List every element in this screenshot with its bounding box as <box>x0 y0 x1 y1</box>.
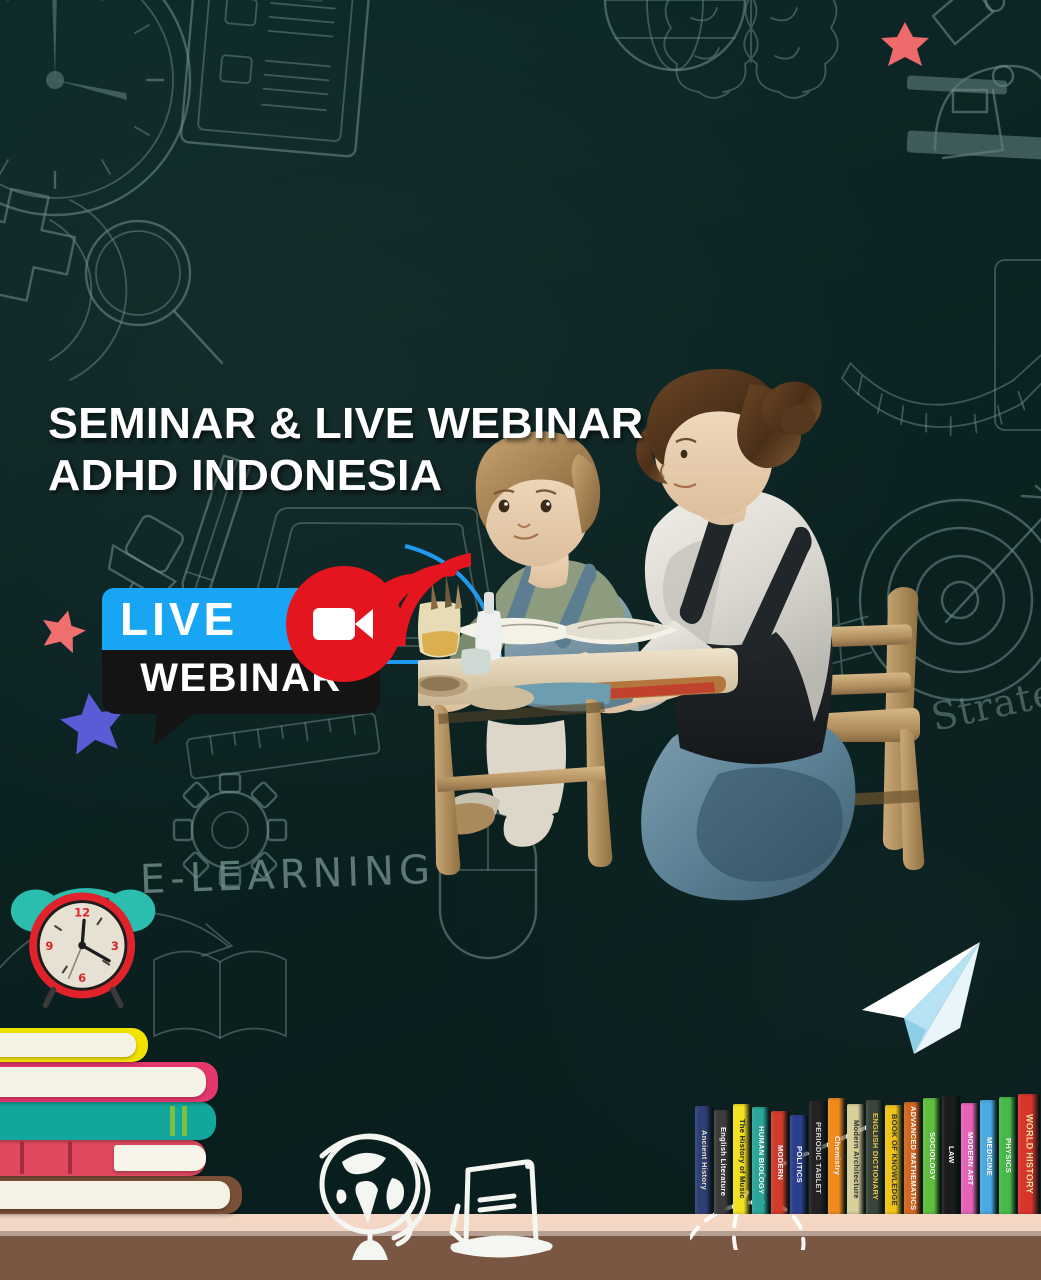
book-spine-title: English Literature <box>719 1127 727 1196</box>
book-spine: ADVANCED MATHEMATICS <box>904 1102 922 1214</box>
book-spine-title: MODERN ART <box>966 1132 974 1186</box>
book-spine: PERIODIC TABLET <box>809 1101 827 1214</box>
alarm-clock: 12 3 6 9 <box>6 878 166 1008</box>
book-spine-title: ENGLISH DICTIONARY <box>871 1113 879 1200</box>
book-spine-title: BOOK OF KNOWLEDGE <box>890 1114 898 1206</box>
book-spine: LAW <box>942 1096 960 1214</box>
stack-book-teal-line2 <box>182 1106 187 1136</box>
stack-book-red-lines2 <box>68 1142 72 1174</box>
book-spine-title: SOCIOLOGY <box>928 1132 936 1180</box>
book-spine-title: PERIODIC TABLET <box>814 1122 822 1194</box>
svg-text:6: 6 <box>78 971 86 985</box>
book-spine-title: PHYSICS <box>1004 1138 1012 1173</box>
clipboard-doodle <box>170 0 390 160</box>
book-spine: SOCIOLOGY <box>923 1098 941 1214</box>
title-line-2: ADHD INDONESIA <box>48 450 643 502</box>
brain-doodle <box>665 0 875 100</box>
camera-glyph <box>313 604 375 644</box>
stack-book-red-pages <box>114 1145 206 1171</box>
stack-book-brown-pages <box>0 1181 230 1209</box>
star-red-decoration <box>40 608 86 654</box>
bookshelf-spines: Ancient History English Literature The H… <box>695 1094 1041 1214</box>
title-line-1: SEMINAR & LIVE WEBINAR <box>48 398 643 450</box>
book-spine: Chemistry <box>828 1098 846 1214</box>
book-spine: MODERN ART <box>961 1103 979 1214</box>
poster-canvas: E-LEARNING Strategy <box>0 0 1041 1280</box>
book-spine-title: Chemistry <box>833 1136 841 1175</box>
book-spine-title: Modern Architecture <box>852 1120 860 1199</box>
book-spine: WORLD HISTORY <box>1018 1094 1040 1214</box>
stack-book-yellow-pages <box>0 1033 136 1057</box>
book-spine: PHYSICS <box>999 1097 1017 1214</box>
book-spine-title: LAW <box>947 1146 955 1164</box>
book-spine-title: HUMAN BIOLOGY <box>757 1126 765 1194</box>
svg-text:12: 12 <box>74 906 90 920</box>
stack-book-teal-line1 <box>170 1106 175 1136</box>
book-spine: Ancient History <box>695 1106 713 1214</box>
paper-airplane <box>856 938 984 1056</box>
svg-text:9: 9 <box>45 939 53 953</box>
book-spine-title: ADVANCED MATHEMATICS <box>909 1106 917 1210</box>
tablet-book-chalk-drawing <box>442 1148 562 1260</box>
stack-book-pink-pages <box>0 1067 206 1097</box>
book-spine-title: The History of Music <box>738 1119 746 1199</box>
book-spine: MODERN <box>771 1111 789 1214</box>
globe-chalk-drawing <box>308 1122 438 1262</box>
book-spine: Modern Architecture <box>847 1104 865 1214</box>
svg-text:3: 3 <box>111 939 119 953</box>
live-webinar-badge[interactable]: WEBINAR LIVE <box>96 548 456 778</box>
live-label: LIVE <box>120 596 238 642</box>
book-spine-title: WORLD HISTORY <box>1025 1114 1034 1194</box>
target-arcs-left-doodle <box>60 190 220 390</box>
book-spine: English Literature <box>714 1110 732 1214</box>
book-spine-title: POLITICS <box>795 1146 803 1183</box>
video-camera-icon[interactable] <box>286 566 402 682</box>
stack-book-red-lines <box>20 1142 24 1174</box>
book-spine: The History of Music <box>733 1104 751 1214</box>
book-spine-title: MEDICINE <box>985 1137 993 1176</box>
book-spine: BOOK OF KNOWLEDGE <box>885 1105 903 1214</box>
poster-title: SEMINAR & LIVE WEBINAR ADHD INDONESIA <box>48 398 632 502</box>
book-spine: MEDICINE <box>980 1100 998 1214</box>
star-red-microscope-icon <box>880 20 930 70</box>
book-spine: POLITICS <box>790 1115 808 1214</box>
book-spine-title: Ancient History <box>700 1130 708 1190</box>
book-spine-title: MODERN <box>776 1145 784 1180</box>
book-spine: ENGLISH DICTIONARY <box>866 1100 884 1214</box>
book-spine: HUMAN BIOLOGY <box>752 1107 770 1214</box>
